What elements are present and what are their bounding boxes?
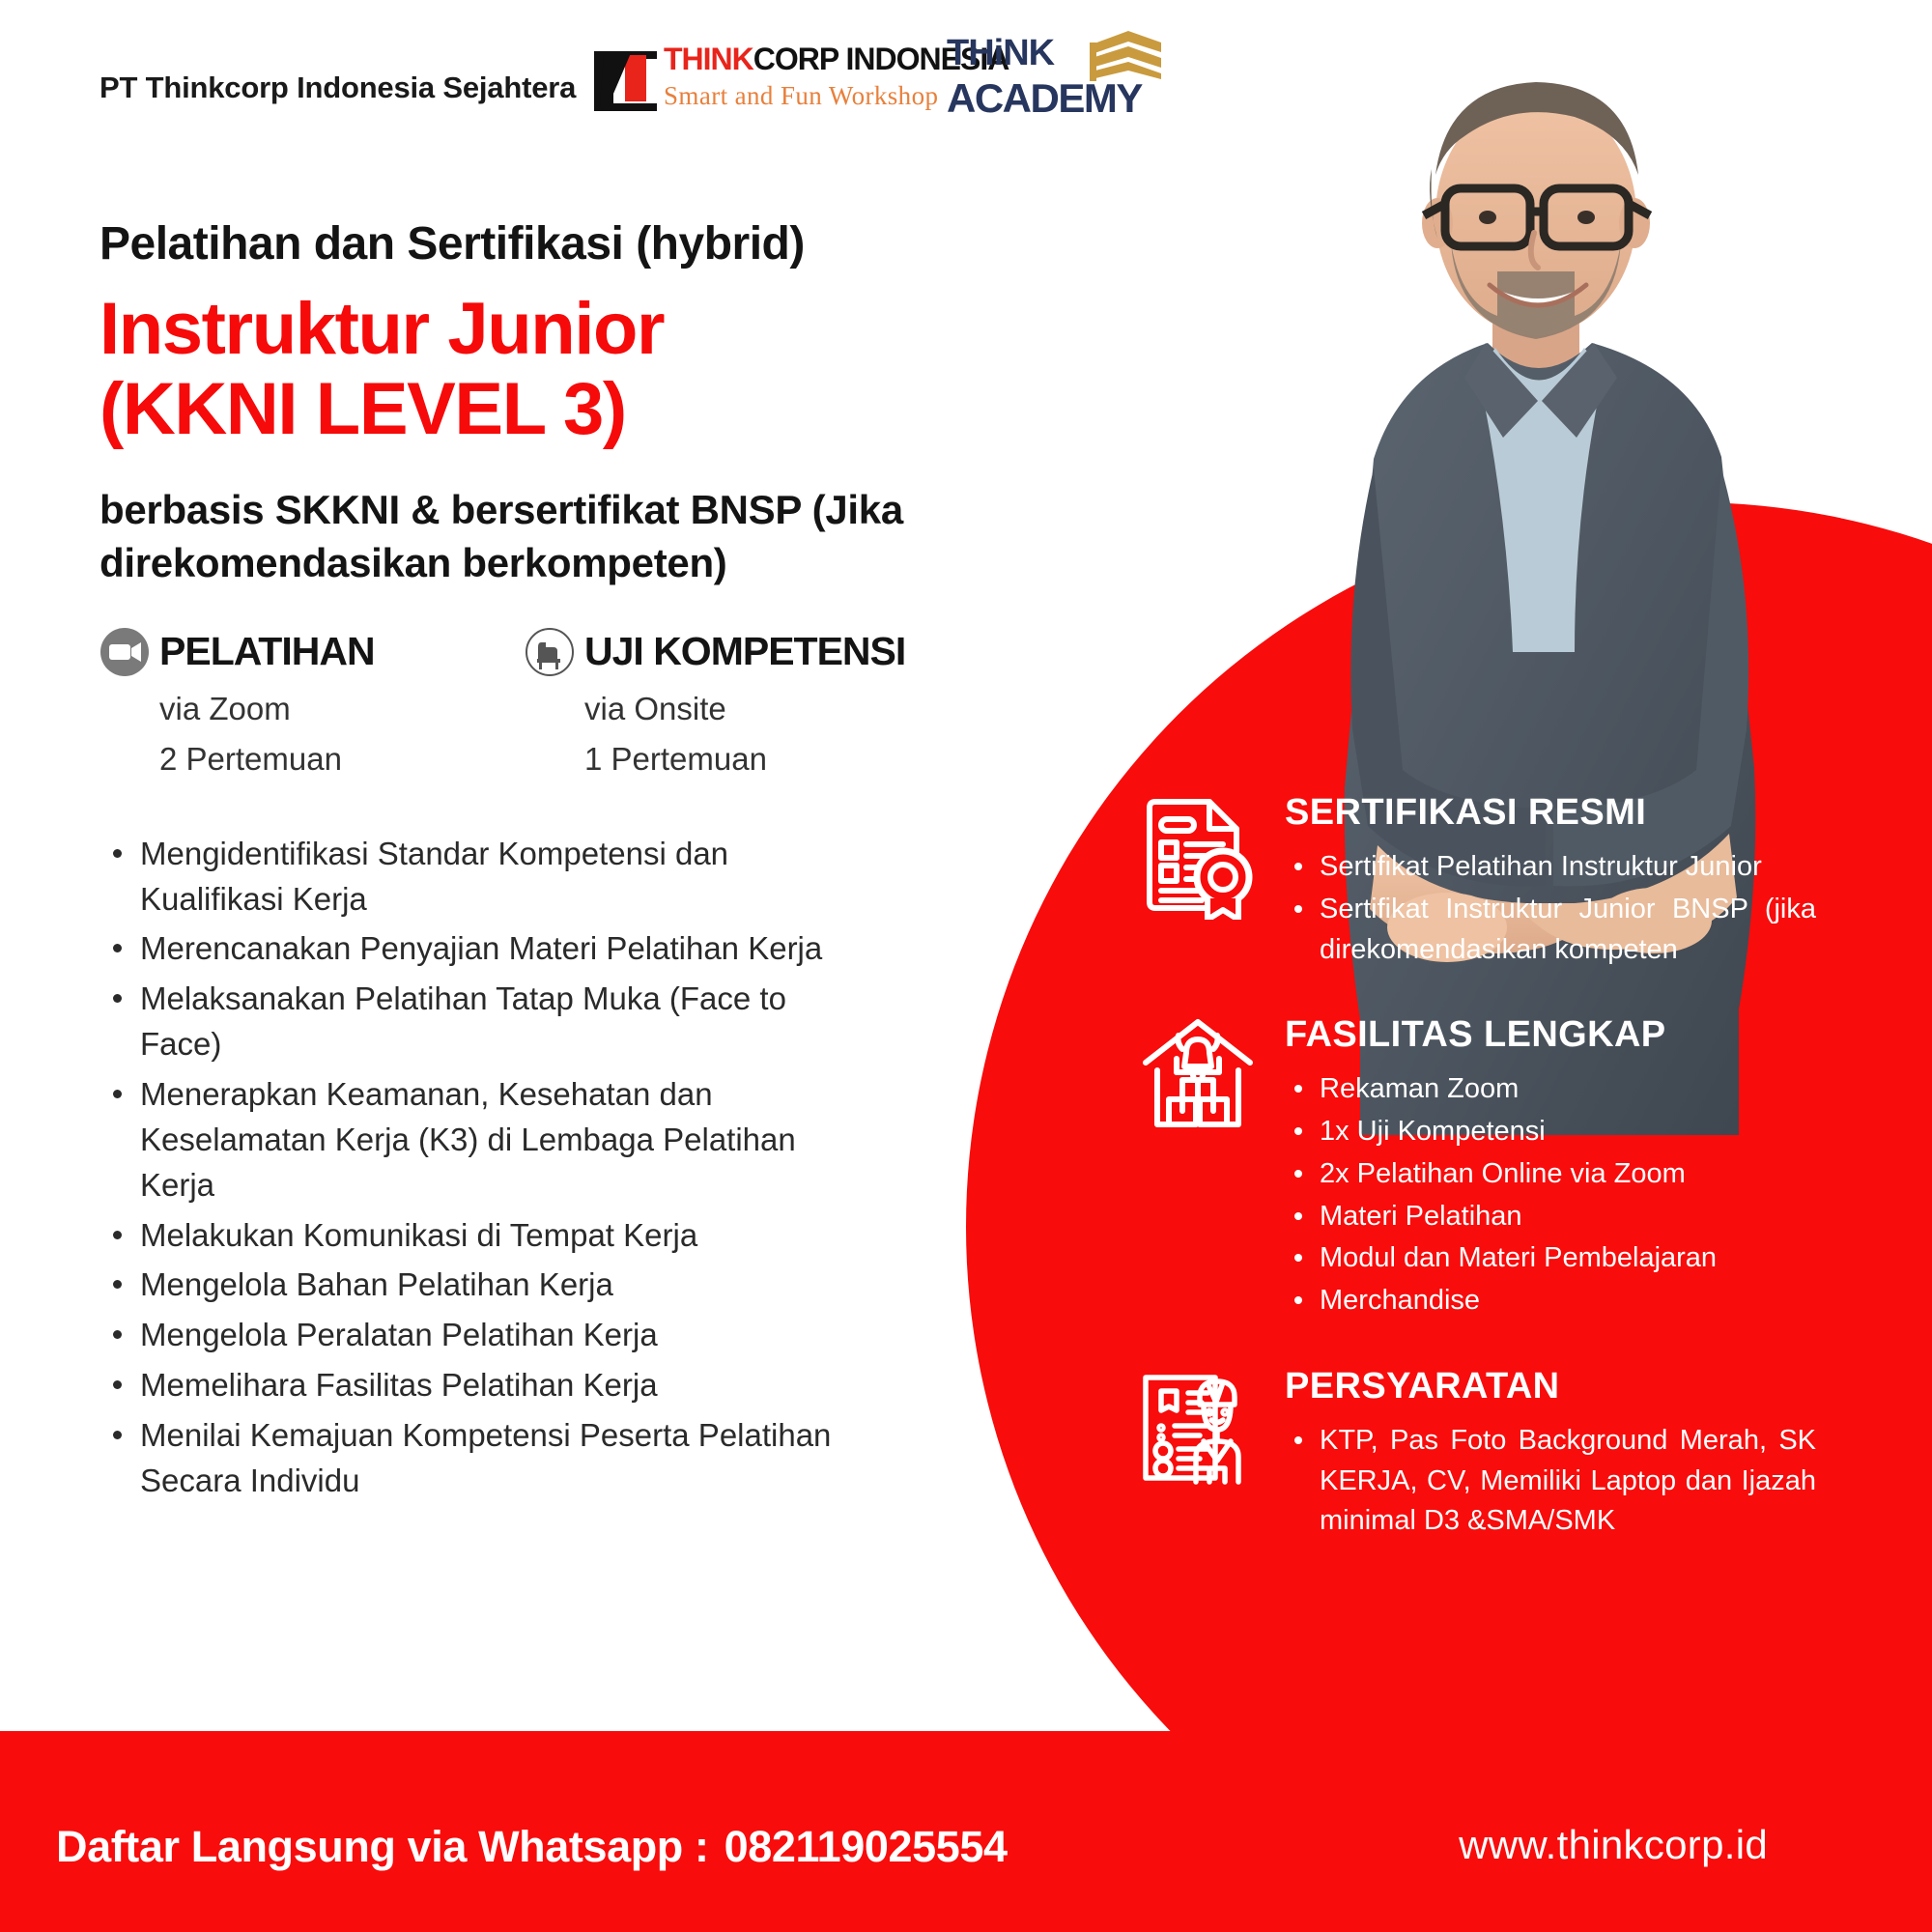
modes-row: PELATIHAN via Zoom 2 Pertemuan UJI KOMPE…	[99, 627, 1046, 778]
academy-line1: THiNK	[947, 33, 1054, 74]
panel-title: SERTIFIKASI RESMI	[1285, 792, 1816, 834]
hero-kicker: Pelatihan dan Sertifikasi (hybrid)	[99, 217, 1046, 271]
thinkcorp-tagline: Smart and Fun Workshop	[664, 81, 938, 111]
whatsapp-cta[interactable]: Daftar Langsung via Whatsapp :0821190255…	[56, 1822, 1008, 1872]
list-item: Menilai Kemajuan Kompetensi Peserta Pela…	[99, 1413, 863, 1504]
list-item: Rekaman Zoom	[1285, 1069, 1816, 1110]
list-item: Merencanakan Penyajian Materi Pelatihan …	[99, 926, 863, 972]
header: PT Thinkcorp Indonesia Sejahtera THINKCO…	[0, 0, 1932, 145]
mode-uji-kompetensi: UJI KOMPETENSI via Onsite 1 Pertemuan	[525, 627, 950, 778]
panel-persyaratan-list: KTP, Pas Foto Background Merah, SK KERJA…	[1285, 1421, 1816, 1542]
whatsapp-label: Daftar Langsung via Whatsapp :	[56, 1822, 709, 1871]
company-name: PT Thinkcorp Indonesia Sejahtera	[99, 71, 576, 105]
benefits-panel: SERTIFIKASI RESMI Sertifikat Pelatihan I…	[1140, 792, 1816, 1586]
mode-uji-via: via Onsite	[584, 691, 950, 727]
list-item: Memelihara Fasilitas Pelatihan Kerja	[99, 1363, 863, 1408]
list-item: Mengelola Peralatan Pelatihan Kerja	[99, 1313, 863, 1358]
seat-chair-icon	[525, 627, 575, 677]
think-academy-logo: THiNK ACADEMY	[947, 29, 1159, 126]
warehouse-bell-icon	[1140, 1016, 1256, 1142]
list-item: 2x Pelatihan Online via Zoom	[1285, 1154, 1816, 1195]
whatsapp-number[interactable]: 082119025554	[724, 1822, 1008, 1871]
mode-pelatihan-via: via Zoom	[159, 691, 525, 727]
hero-subtitle: berbasis SKKNI & bersertifikat BNSP (Jik…	[99, 483, 1046, 590]
website-link[interactable]: www.thinkcorp.id	[1459, 1822, 1768, 1868]
poster-root: PT Thinkcorp Indonesia Sejahtera THINKCO…	[0, 0, 1932, 1932]
list-item: Melakukan Komunikasi di Tempat Kerja	[99, 1213, 863, 1259]
skills-list: Mengidentifikasi Standar Kompetensi dan …	[99, 832, 1046, 1504]
list-item: Mengelola Bahan Pelatihan Kerja	[99, 1263, 863, 1308]
panel-title: PERSYARATAN	[1285, 1366, 1816, 1407]
panel-fasilitas-list: Rekaman Zoom 1x Uji Kompetensi 2x Pelati…	[1285, 1069, 1816, 1321]
mode-pelatihan-sessions: 2 Pertemuan	[159, 741, 525, 778]
thinkcorp-mark-icon	[594, 40, 657, 115]
panel-title: FASILITAS LENGKAP	[1285, 1014, 1816, 1056]
panel-fasilitas-lengkap: FASILITAS LENGKAP Rekaman Zoom 1x Uji Ko…	[1140, 1014, 1816, 1321]
list-item: Sertifikat Instruktur Junior BNSP (jika …	[1285, 890, 1816, 971]
hero-title: Instruktur Junior (KKNI LEVEL 3)	[99, 289, 1046, 450]
checklist-worker-icon	[1140, 1368, 1256, 1493]
panel-sertifikasi-resmi: SERTIFIKASI RESMI Sertifikat Pelatihan I…	[1140, 792, 1816, 970]
mode-pelatihan-header: PELATIHAN	[99, 627, 525, 677]
list-item: 1x Uji Kompetensi	[1285, 1112, 1816, 1152]
mode-uji-header: UJI KOMPETENSI	[525, 627, 950, 677]
panel-persyaratan-body: PERSYARATAN KTP, Pas Foto Background Mer…	[1285, 1366, 1816, 1542]
mode-uji-label: UJI KOMPETENSI	[584, 629, 905, 674]
panel-persyaratan: PERSYARATAN KTP, Pas Foto Background Mer…	[1140, 1366, 1816, 1542]
list-item: Materi Pelatihan	[1285, 1197, 1816, 1237]
panel-fasilitas-body: FASILITAS LENGKAP Rekaman Zoom 1x Uji Ko…	[1285, 1014, 1816, 1321]
thinkcorp-logo: THINKCORP INDONESIA Smart and Fun Worksh…	[594, 35, 903, 122]
list-item: Menerapkan Keamanan, Kesehatan dan Kesel…	[99, 1072, 863, 1208]
list-item: Sertifikat Pelatihan Instruktur Junior	[1285, 847, 1816, 888]
thinkcorp-word-think: THINK	[664, 42, 753, 76]
certificate-badge-icon	[1140, 794, 1256, 920]
video-camera-icon	[99, 627, 150, 677]
panel-sertifikasi-body: SERTIFIKASI RESMI Sertifikat Pelatihan I…	[1285, 792, 1816, 970]
mode-uji-sessions: 1 Pertemuan	[584, 741, 950, 778]
panel-sertifikasi-list: Sertifikat Pelatihan Instruktur Junior S…	[1285, 847, 1816, 970]
academy-line2: ACADEMY	[947, 75, 1142, 122]
academy-chevron-icon	[1090, 31, 1163, 81]
list-item: Melaksanakan Pelatihan Tatap Muka (Face …	[99, 977, 863, 1067]
mode-pelatihan: PELATIHAN via Zoom 2 Pertemuan	[99, 627, 525, 778]
list-item: Mengidentifikasi Standar Kompetensi dan …	[99, 832, 863, 923]
list-item: Merchandise	[1285, 1281, 1816, 1321]
list-item: Modul dan Materi Pembelajaran	[1285, 1238, 1816, 1279]
left-content-column: Pelatihan dan Sertifikasi (hybrid) Instr…	[99, 217, 1046, 1509]
hero-title-line2: (KKNI LEVEL 3)	[99, 369, 1046, 450]
hero-title-line1: Instruktur Junior	[99, 289, 1046, 370]
list-item: KTP, Pas Foto Background Merah, SK KERJA…	[1285, 1421, 1816, 1542]
mode-pelatihan-label: PELATIHAN	[159, 629, 375, 674]
